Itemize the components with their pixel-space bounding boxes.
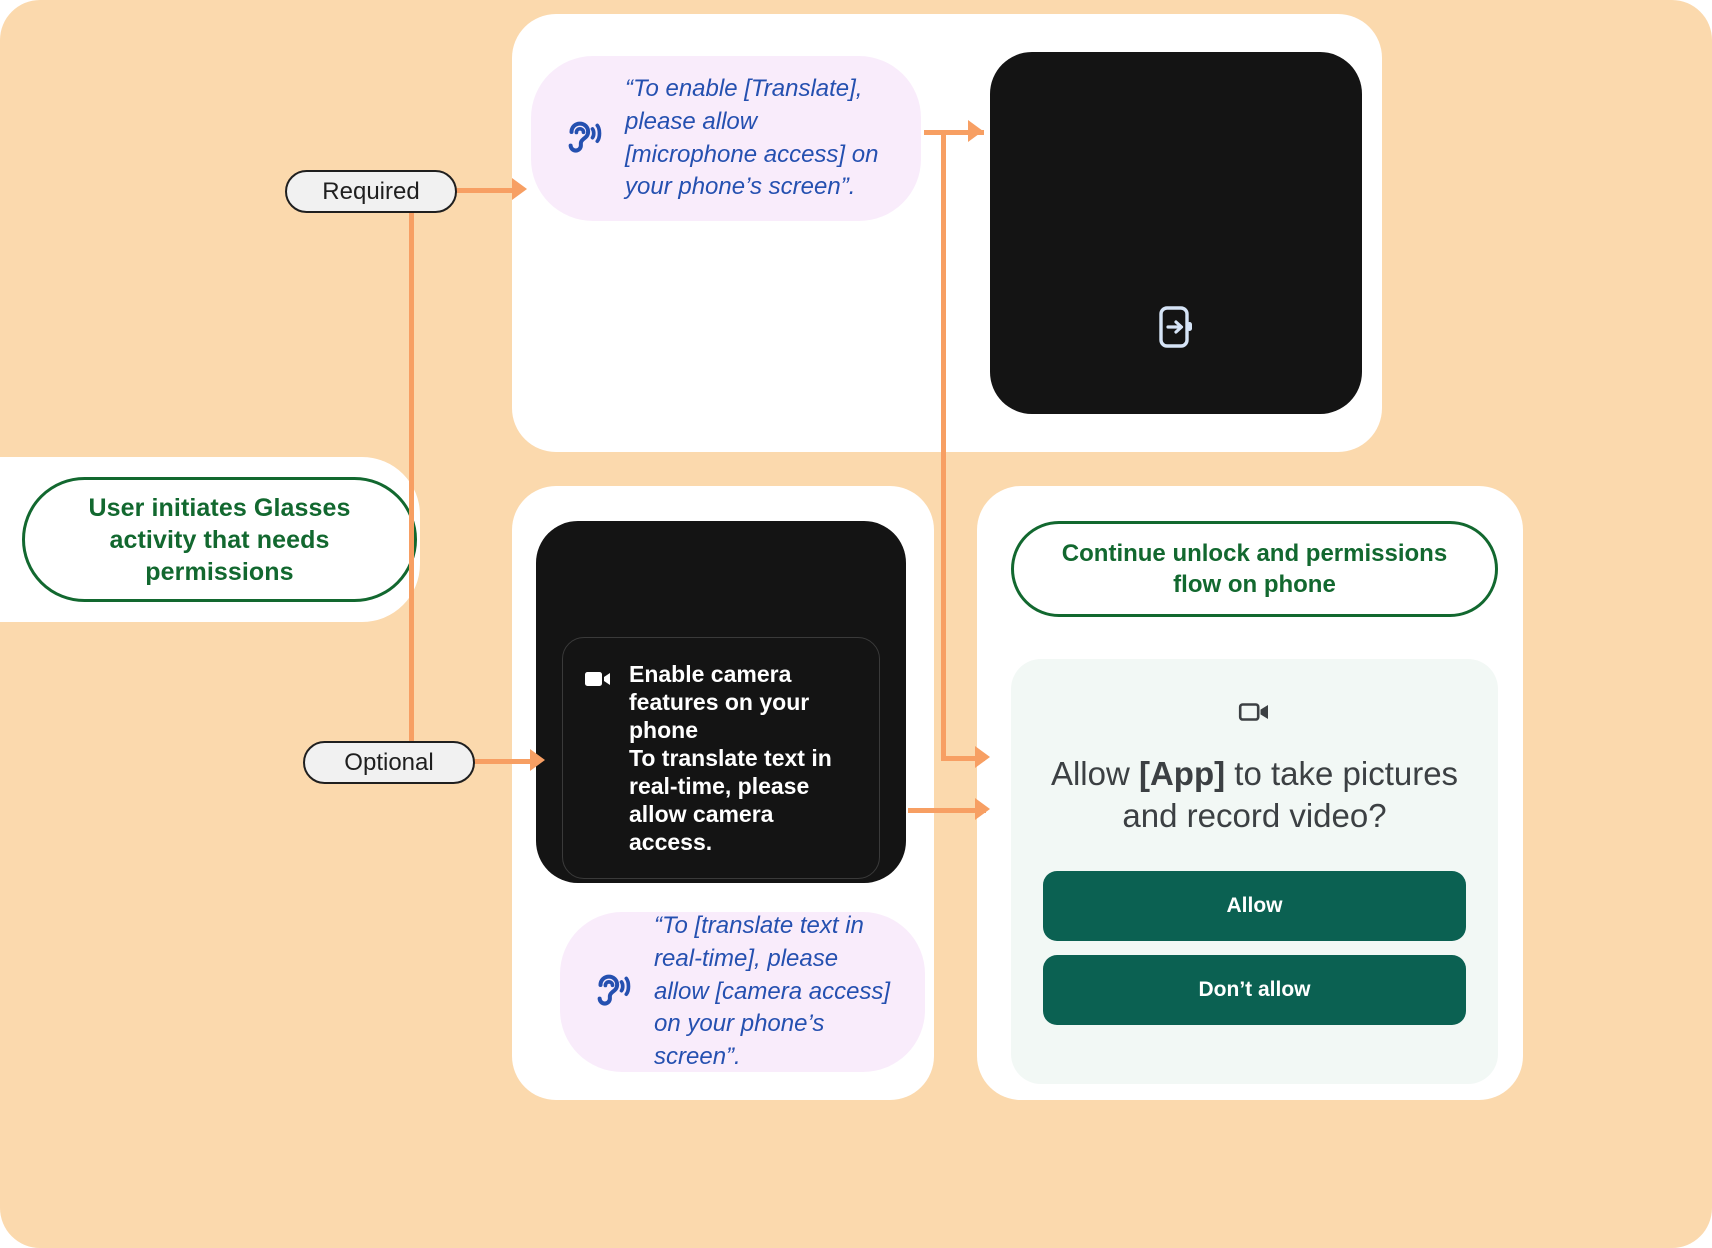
connector-phone-lower-arrowhead: [975, 798, 990, 820]
permission-question: Allow [App] to take pictures and record …: [1043, 753, 1466, 837]
phone-permission-dialog: Allow [App] to take pictures and record …: [1011, 659, 1498, 1084]
continue-flow-node: Continue unlock and permissions flow on …: [1011, 521, 1498, 617]
video-camera-icon: [583, 664, 613, 694]
phone-unlock-icon: [1156, 304, 1196, 350]
deny-button[interactable]: Don’t allow: [1043, 955, 1466, 1025]
connector-trunk-vertical: [409, 191, 414, 761]
allow-button[interactable]: Allow: [1043, 871, 1466, 941]
glasses-camera-body: To translate text in real-time, please a…: [629, 745, 832, 855]
branch-pill-optional-label: Optional: [344, 749, 433, 777]
connector-optional-to-glasses: [473, 759, 535, 764]
glasses-camera-notification: Enable camera features on your phone To …: [562, 637, 880, 879]
glasses-display-unlock: [990, 52, 1362, 414]
speech-bubble-camera: “To [translate text in real-time], pleas…: [560, 912, 925, 1072]
diagram-canvas: User initiates Glasses activity that nee…: [0, 0, 1712, 1248]
video-camera-outline-icon: [1238, 697, 1272, 731]
source-node-label: User initiates Glasses activity that nee…: [25, 492, 414, 588]
connector-required-arrowhead: [512, 178, 527, 200]
ear-hearing-icon: [561, 118, 603, 160]
speech-bubble-microphone-text: “To enable [Translate], please allow [mi…: [625, 73, 891, 204]
branch-pill-required-label: Required: [322, 178, 419, 206]
connector-optional-arrowhead: [530, 749, 545, 771]
connector-phone-upper-arrowhead: [975, 746, 990, 768]
connector-vertical-to-phone: [941, 130, 946, 758]
permission-question-prefix: Allow: [1051, 755, 1139, 792]
ear-hearing-icon: [590, 971, 632, 1013]
glasses-camera-title: Enable camera features on your phone: [629, 661, 809, 743]
continue-flow-label: Continue unlock and permissions flow on …: [1014, 538, 1495, 600]
branch-pill-optional[interactable]: Optional: [303, 741, 475, 784]
glasses-display-camera: Enable camera features on your phone To …: [536, 521, 906, 883]
speech-bubble-microphone: “To enable [Translate], please allow [mi…: [531, 56, 921, 221]
branch-pill-required[interactable]: Required: [285, 170, 457, 213]
connector-glasses-top-arrowhead: [968, 120, 983, 142]
permission-question-app: [App]: [1139, 755, 1225, 792]
speech-bubble-camera-text: “To [translate text in real-time], pleas…: [654, 910, 895, 1073]
source-node: User initiates Glasses activity that nee…: [22, 477, 417, 602]
connector-required-to-bubble: [455, 188, 517, 193]
